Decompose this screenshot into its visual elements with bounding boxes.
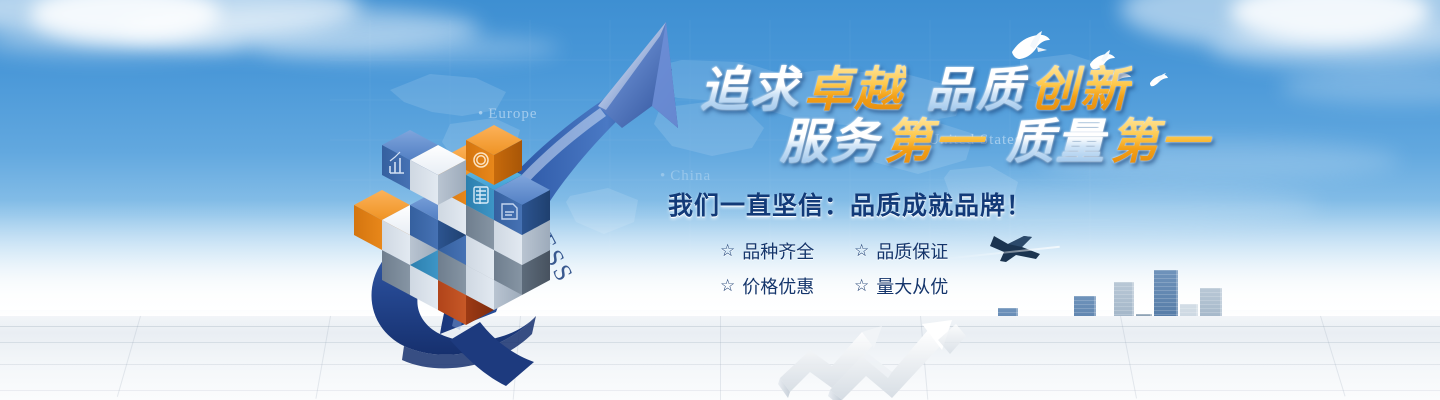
feature-item-0: ☆ 品种齐全 [720, 238, 848, 264]
feature-label: 量大从优 [876, 273, 948, 299]
business-banner: Europe United States China [0, 0, 1440, 400]
subtitle: 我们一直坚信：品质成就品牌！ [668, 186, 1220, 222]
headline-l1-seg-1: 追求 [698, 62, 802, 118]
feature-label: 价格优惠 [742, 273, 814, 299]
headline-l1-seg-3: 品质 [924, 62, 1028, 118]
headline-l2-seg-4: 第一 [1108, 114, 1212, 170]
feature-item-1: ☆ 品质保证 [854, 238, 982, 264]
feature-list: ☆ 品种齐全 ☆ 品质保证 ☆ 价格优惠 ☆ 量大从优 [720, 238, 1220, 299]
feature-label: 品种齐全 [742, 238, 814, 264]
bar-chart-icon [390, 152, 404, 173]
headline-l1-seg-2: 卓越 [802, 62, 906, 118]
star-icon: ☆ [854, 243, 869, 260]
feature-item-2: ☆ 价格优惠 [720, 273, 848, 299]
document-icon [502, 204, 517, 219]
copy-block: 追求卓越品质创新 服务第一质量第一 我们一直坚信：品质成就品牌！ ☆ 品种齐全 … [660, 62, 1220, 299]
plaza-floor [0, 316, 1440, 400]
headline-line-1: 追求卓越品质创新 [660, 62, 1220, 118]
headline: 追求卓越品质创新 服务第一质量第一 [660, 62, 1220, 170]
headline-line-2: 服务第一质量第一 [660, 114, 1220, 170]
star-icon: ☆ [720, 278, 735, 295]
star-icon: ☆ [854, 278, 869, 295]
headline-l2-seg-1: 服务 [778, 114, 882, 170]
arrow-business-label: BUSINESS [487, 150, 578, 289]
headline-l1-seg-4: 创新 [1028, 62, 1132, 118]
feature-item-3: ☆ 量大从优 [854, 273, 982, 299]
headline-l2-seg-2: 第一 [882, 114, 986, 170]
handshake-icon [445, 174, 466, 186]
rubik-cube-graphic [318, 100, 588, 330]
coin-icon [474, 153, 488, 167]
dove-icon [1008, 30, 1054, 64]
calculator-icon [474, 187, 488, 204]
star-icon: ☆ [720, 243, 735, 260]
headline-l2-seg-3: 质量 [1004, 114, 1108, 170]
feature-label: 品质保证 [876, 238, 948, 264]
map-label-europe: Europe [478, 106, 538, 123]
